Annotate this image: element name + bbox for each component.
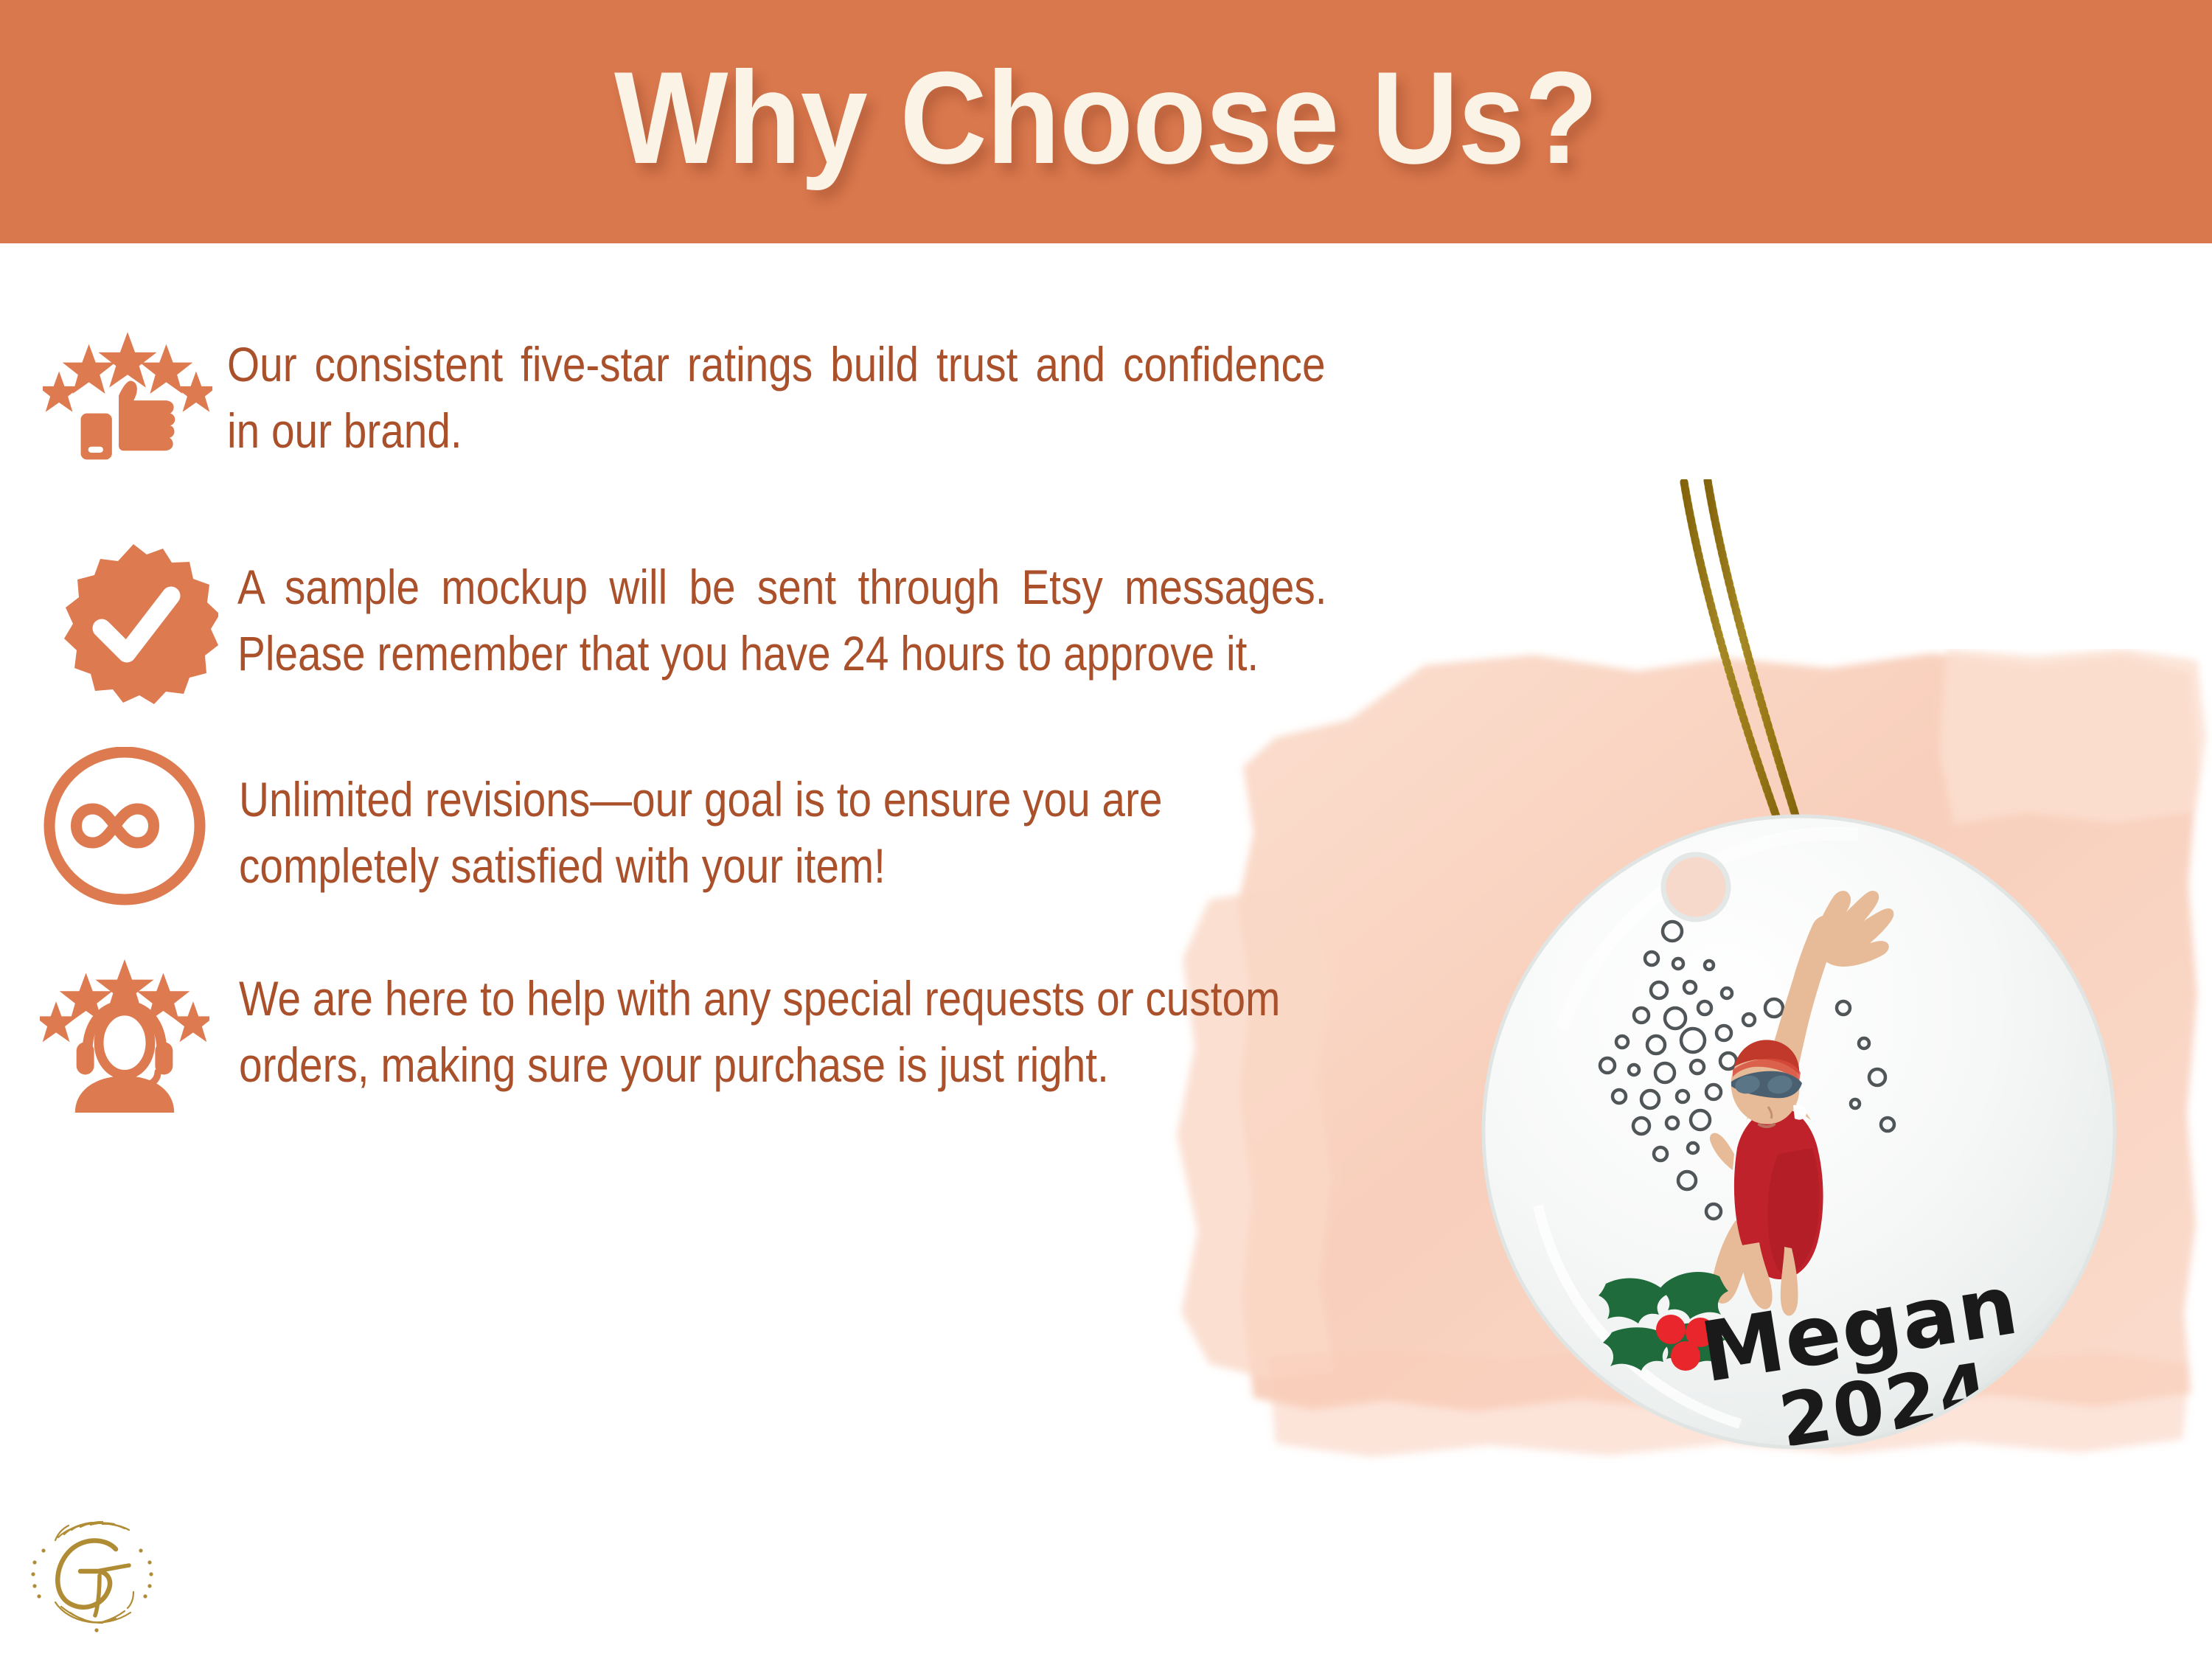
feature-item: We are here to help with any special req…	[59, 951, 1504, 1121]
feature-text: We are here to help with any special req…	[239, 951, 1327, 1099]
feature-item: Our consistent five-star ratings build t…	[59, 317, 1504, 487]
header-banner: Why Choose Us?	[0, 0, 2212, 243]
customer-support-stars-icon	[40, 951, 209, 1121]
ornament-disc: Megan 2024	[1475, 807, 2124, 1456]
page-title: Why Choose Us?	[614, 52, 1598, 184]
feature-text: Unlimited revisions—our goal is to ensur…	[239, 752, 1327, 900]
feature-text: Our consistent five-star ratings build t…	[227, 317, 1326, 465]
feature-item: A sample mockup will be sent through Ets…	[59, 540, 1504, 709]
feature-list: Our consistent five-star ratings build t…	[59, 317, 1504, 1168]
infinity-circle-icon	[40, 752, 209, 900]
verified-badge-check-icon	[49, 540, 218, 709]
feature-text: A sample mockup will be sent through Ets…	[237, 540, 1326, 687]
product-ornament: Megan 2024	[1460, 479, 2168, 1475]
g-monogram-wreath-logo	[26, 1508, 159, 1641]
five-stars-thumbs-up-icon	[43, 317, 212, 487]
feature-item: Unlimited revisions—our goal is to ensur…	[59, 752, 1504, 900]
